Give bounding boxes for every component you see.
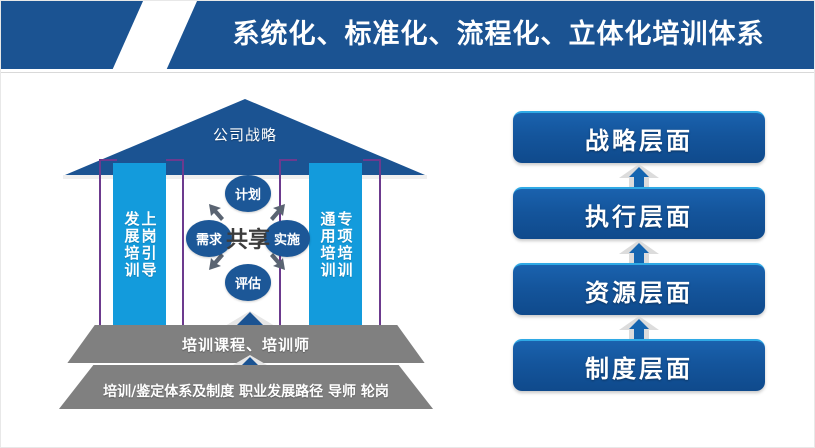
layer-button-resource[interactable]: 资源层面	[513, 263, 765, 315]
layer-button-execution[interactable]: 执行层面	[513, 187, 765, 239]
layer-stack: 战略层面 执行层面 资源层面 制度层面	[513, 111, 773, 401]
step-up-arrow-2-icon	[618, 239, 660, 263]
cycle-center-label: 共享	[210, 219, 286, 257]
foundation-systems: 培训/鉴定体系及制度 职业发展路径 导师 轮岗	[31, 365, 461, 409]
right-pillar-text-2: 通用培训	[320, 211, 335, 279]
foundation-systems-label: 培训/鉴定体系及制度 职业发展路径 导师 轮岗	[103, 381, 389, 401]
cycle-node-check: 评估	[225, 264, 271, 301]
page-title: 系统化、标准化、流程化、立体化培训体系	[186, 1, 811, 69]
pdca-cycle: 计划 实施 评估 需求 共享	[184, 173, 312, 303]
cycle-node-plan: 计划	[225, 175, 271, 212]
left-pillar: 上岗引导 发展培训	[113, 163, 166, 327]
left-bracket-close	[166, 159, 184, 335]
slide-canvas: 系统化、标准化、流程化、立体化培训体系 公司战略 上岗引导 发展培训 专项培训 …	[0, 0, 815, 448]
step-up-arrow-1-icon	[618, 163, 660, 187]
roof-label: 公司战略	[63, 124, 427, 145]
temple-diagram: 公司战略 上岗引导 发展培训 专项培训 通用培训	[1, 73, 501, 448]
left-pillar-text-1: 上岗引导	[141, 211, 156, 279]
right-bracket-close	[363, 159, 381, 335]
right-pillar-text-1: 专项培训	[337, 211, 352, 279]
layer-button-system[interactable]: 制度层面	[513, 339, 765, 391]
layer-button-strategy[interactable]: 战略层面	[513, 111, 765, 163]
step-up-arrow-3-icon	[618, 315, 660, 339]
foundation-resources-label: 培训课程、培训师	[182, 334, 310, 355]
left-pillar-text-2: 发展培训	[124, 211, 139, 279]
right-pillar: 专项培训 通用培训	[309, 163, 362, 327]
header-banner: 系统化、标准化、流程化、立体化培训体系	[1, 1, 815, 69]
